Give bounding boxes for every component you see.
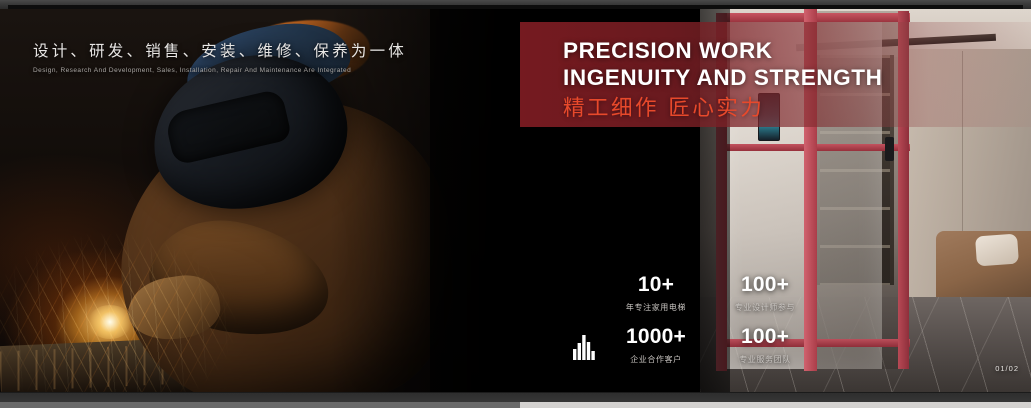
headline-line-1: PRECISION WORK <box>563 38 882 65</box>
sofa-cushion <box>975 234 1019 267</box>
stat-value: 100+ <box>710 325 820 349</box>
browser-top-chrome <box>0 0 1031 9</box>
welding-sparks <box>0 224 300 392</box>
hero-banner-screenshot: 设计、研发、销售、安装、维修、保养为一体 Design, Research An… <box>0 0 1031 408</box>
stat-item: 100+ 专业服务团队 <box>710 325 820 365</box>
stat-value: 10+ <box>602 273 710 297</box>
horizontal-scrollbar-track[interactable] <box>520 402 1031 408</box>
stat-label: 年专注家用电梯 <box>602 302 710 313</box>
stat-label: 专业服务团队 <box>710 354 820 365</box>
stat-label: 企业合作客户 <box>602 354 710 365</box>
tagline-english: Design, Research And Development, Sales,… <box>33 67 407 74</box>
headline-line-2: INGENUITY AND STRENGTH <box>563 65 882 92</box>
stat-item: 100+ 专业设计师参与 <box>710 273 820 313</box>
headline-banner: PRECISION WORK INGENUITY AND STRENGTH 精工… <box>520 22 1031 127</box>
stats-block: 10+ 年专注家用电梯 100+ 专业设计师参与 1000+ 企业合作客户 10… <box>568 267 820 371</box>
stat-item: 1000+ 企业合作客户 <box>602 325 710 365</box>
weld-arc-glow <box>88 305 132 339</box>
headline-chinese: 精工细作 匠心实力 <box>563 97 882 121</box>
tagline-block: 设计、研发、销售、安装、维修、保养为一体 Design, Research An… <box>33 39 407 74</box>
stat-value: 100+ <box>710 273 820 297</box>
stat-label: 专业设计师参与 <box>710 302 820 313</box>
stat-value: 1000+ <box>602 325 710 349</box>
headline-text-block: PRECISION WORK INGENUITY AND STRENGTH 精工… <box>563 38 882 121</box>
bar-chart-icon <box>568 330 602 360</box>
horizontal-scrollbar-thumb[interactable] <box>0 402 520 408</box>
hero-section: 设计、研发、销售、安装、维修、保养为一体 Design, Research An… <box>0 9 1031 392</box>
tagline-chinese: 设计、研发、销售、安装、维修、保养为一体 <box>33 39 407 61</box>
stat-item: 10+ 年专注家用电梯 <box>602 273 710 313</box>
elevator-call-panel <box>885 137 894 161</box>
slide-pagination-indicator[interactable]: 01/02 <box>995 364 1019 373</box>
